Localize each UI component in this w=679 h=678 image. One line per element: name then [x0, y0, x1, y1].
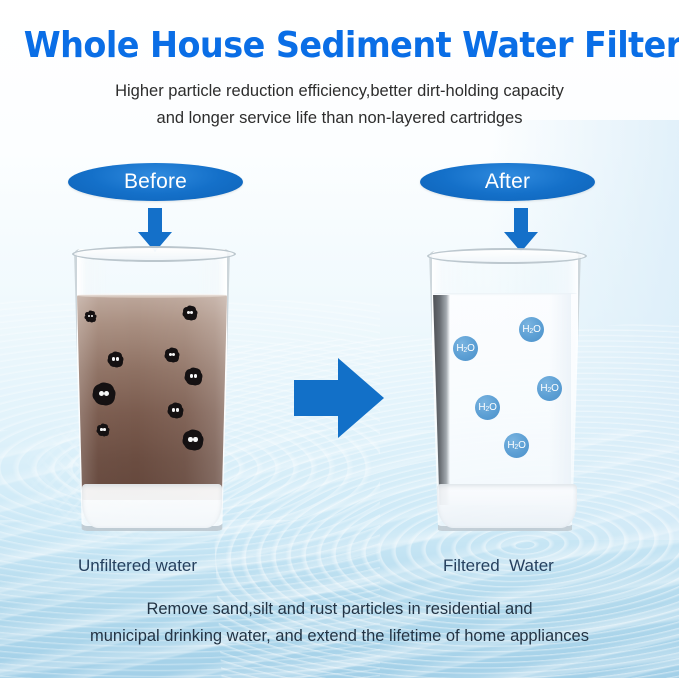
h2o-molecule-icon: H2O: [519, 317, 544, 342]
h2o-label: H2O: [478, 402, 496, 413]
particle-eye-right: [176, 408, 179, 411]
h2o-molecule-icon: H2O: [537, 376, 562, 401]
after-label-pill: After: [420, 163, 595, 201]
after-label-text: After: [485, 170, 530, 194]
footer-line-1: Remove sand,silt and rust particles in r…: [0, 600, 679, 619]
h2o-label: H2O: [522, 324, 540, 335]
down-arrow-icon-after: [504, 208, 538, 252]
h2o-molecule-icon: H2O: [475, 395, 500, 420]
h2o-molecule-icon: H2O: [504, 433, 529, 458]
unfiltered-water-glass: [74, 249, 230, 531]
particle-eye-right: [104, 391, 109, 396]
caption-filtered: Filtered Water: [443, 556, 554, 576]
particle-eye-right: [116, 357, 119, 360]
glass-base: [82, 484, 222, 528]
footer-line-2: municipal drinking water, and extend the…: [0, 627, 679, 646]
arrow-shaft: [514, 208, 528, 234]
sediment-particle-icon: [184, 307, 196, 319]
caption-unfiltered: Unfiltered water: [78, 556, 197, 576]
subtitle-line-1: Higher particle reduction efficiency,bet…: [0, 82, 679, 101]
subtitle-line-2: and longer service life than non-layered…: [0, 109, 679, 128]
glass-rim: [72, 246, 236, 262]
h2o-label: H2O: [540, 383, 558, 394]
particle-eye-right: [103, 428, 106, 431]
arrow-tip: [338, 358, 384, 438]
filtered-water-glass: H2O H2O H2O H2O H2O: [429, 251, 581, 531]
before-label-text: Before: [124, 170, 187, 194]
particle-eye-right: [193, 437, 198, 442]
sediment-particle-icon: [94, 384, 114, 404]
poster-canvas: Whole House Sediment Water Filter Higher…: [0, 0, 679, 678]
h2o-label: H2O: [456, 343, 474, 354]
sediment-particle-icon: [166, 349, 178, 361]
sediment-particle-icon: [169, 404, 182, 417]
right-arrow-icon: [294, 358, 384, 438]
sediment-particle-icon: [109, 353, 122, 366]
sediment-particle-icon: [86, 312, 95, 321]
sediment-particle-icon: [184, 431, 202, 449]
wave-streaks-lower: [0, 520, 679, 678]
page-title: Whole House Sediment Water Filter: [24, 25, 655, 66]
sediment-particle-icon: [98, 425, 108, 435]
glass-rim: [427, 248, 587, 264]
water-surface-line: [77, 293, 227, 298]
h2o-molecule-icon: H2O: [453, 336, 478, 361]
before-label-pill: Before: [68, 163, 243, 201]
glass-base: [437, 484, 577, 528]
arrow-shaft: [148, 208, 162, 234]
h2o-label: H2O: [507, 440, 525, 451]
sediment-particle-icon: [186, 369, 201, 384]
